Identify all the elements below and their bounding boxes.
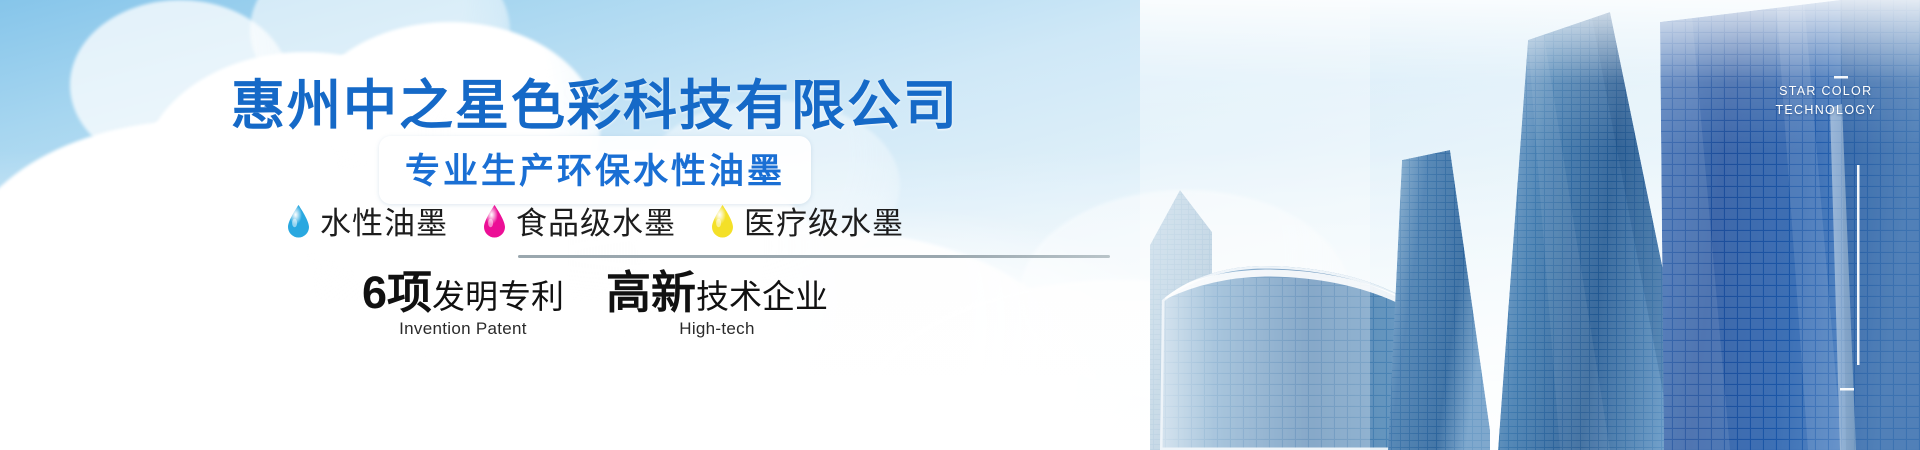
feature-label: 医疗级水墨	[744, 198, 904, 243]
credential-en: Invention Patent	[362, 319, 564, 339]
skyscrapers-photo	[1140, 0, 1920, 450]
building-brand-line1: STAR COLOR	[1775, 82, 1876, 101]
subtitle-badge: 专业生产环保水性油墨	[379, 136, 811, 204]
credential-cn: 6项发明专利	[362, 268, 564, 318]
feature-item: 医疗级水墨	[710, 198, 904, 243]
building-brand-label: STAR COLOR TECHNOLOGY	[1775, 82, 1876, 121]
credential-rest: 发明专利	[432, 278, 564, 315]
credential-highlight: 6项	[362, 267, 432, 318]
feature-item: 水性油墨	[286, 198, 448, 243]
section-divider	[518, 255, 1110, 258]
credential-item: 6项发明专利Invention Patent	[362, 268, 564, 339]
water-drop-icon	[482, 204, 507, 238]
company-title: 惠州中之星色彩科技有限公司	[0, 61, 1190, 140]
feature-label: 水性油墨	[320, 198, 448, 243]
credential-item: 高新技术企业High-tech	[606, 268, 828, 339]
hero-banner: Star Color	[0, 0, 1920, 450]
water-drop-icon	[710, 204, 735, 238]
credentials-list: 6项发明专利Invention Patent高新技术企业High-tech	[0, 268, 1190, 339]
credential-en: High-tech	[606, 319, 828, 339]
feature-item: 食品级水墨	[482, 198, 676, 243]
building-brand-line2: TECHNOLOGY	[1775, 101, 1876, 120]
credential-rest: 技术企业	[696, 278, 828, 315]
water-drop-icon	[286, 204, 311, 238]
banner-content: 惠州中之星色彩科技有限公司 专业生产环保水性油墨 水性油墨食品级水墨医疗级水墨 …	[0, 0, 1190, 450]
credential-cn: 高新技术企业	[606, 268, 828, 318]
feature-label: 食品级水墨	[516, 198, 676, 243]
product-feature-list: 水性油墨食品级水墨医疗级水墨	[0, 198, 1190, 243]
credential-highlight: 高新	[606, 267, 696, 318]
subtitle-badge-wrap: 专业生产环保水性油墨	[0, 136, 1190, 204]
